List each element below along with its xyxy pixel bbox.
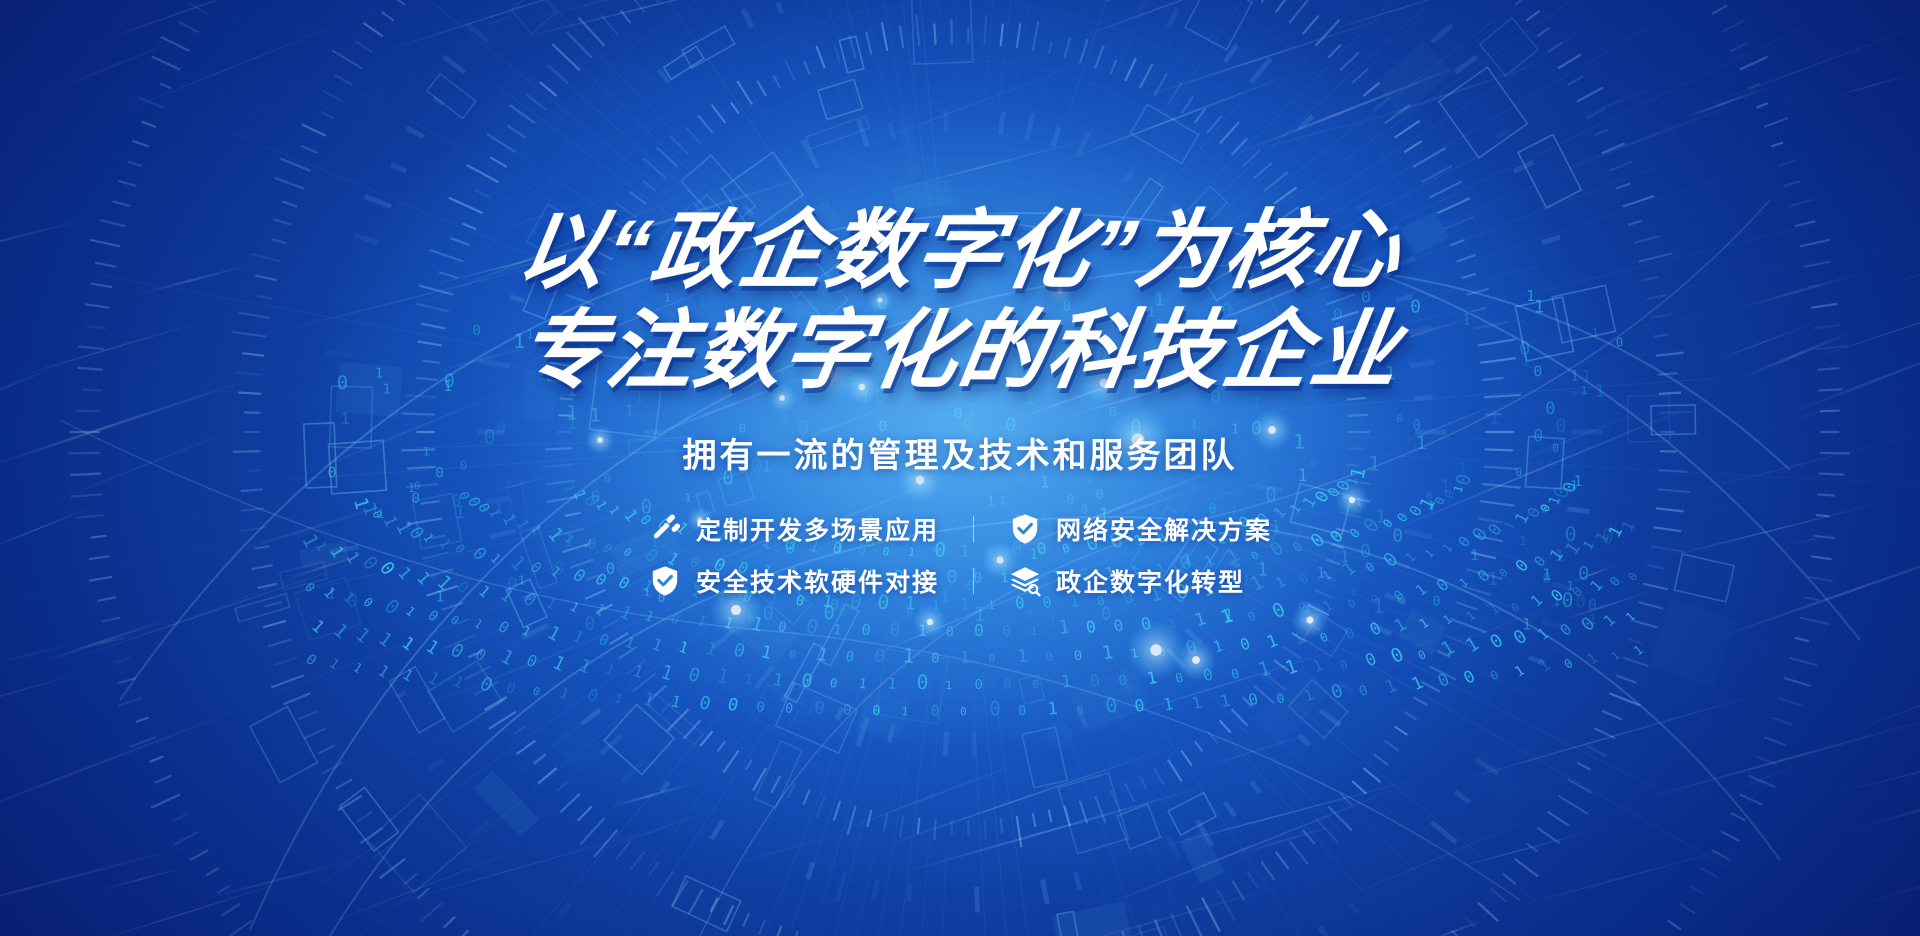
feature-item-label: 网络安全解决方案 xyxy=(1056,511,1272,547)
hero-banner: 1100011100110010000001010001010111001110… xyxy=(0,0,1920,936)
headline-line-2: 专注数字化的科技企业 xyxy=(513,308,1407,394)
feature-item-label: 安全技术软硬件对接 xyxy=(696,563,939,599)
layers-search-icon xyxy=(1008,564,1042,598)
banner-content: 以“政企数字化”为核心 专注数字化的科技企业 拥有一流的管理及技术和服务团队 xyxy=(0,0,1920,936)
feature-item-hardware-docking[interactable]: 安全技术软硬件对接 xyxy=(648,563,973,599)
headline-line-1: 以“政企数字化”为核心 xyxy=(512,208,1408,294)
feature-item-label: 定制开发多场景应用 xyxy=(696,511,939,547)
shield-check-icon xyxy=(1008,512,1042,546)
feature-list: 定制开发多场景应用 网络安全解决方案 xyxy=(648,511,1272,599)
customize-layers-icon xyxy=(648,512,682,546)
shield-check-icon xyxy=(648,564,682,598)
feature-item-digital-transform[interactable]: 政企数字化转型 xyxy=(974,563,1272,599)
feature-item-custom-dev[interactable]: 定制开发多场景应用 xyxy=(648,511,973,547)
banner-subtitle: 拥有一流的管理及技术和服务团队 xyxy=(683,428,1238,477)
headline-line-2-text: 专注数字化的科技企业 xyxy=(512,303,1407,399)
feature-item-network-security[interactable]: 网络安全解决方案 xyxy=(974,511,1272,547)
headline-line-1-text: 以“政企数字化”为核心 xyxy=(511,203,1408,299)
feature-item-label: 政企数字化转型 xyxy=(1056,563,1245,599)
banner-subtitle-text: 拥有一流的管理及技术和服务团队 xyxy=(683,437,1238,475)
